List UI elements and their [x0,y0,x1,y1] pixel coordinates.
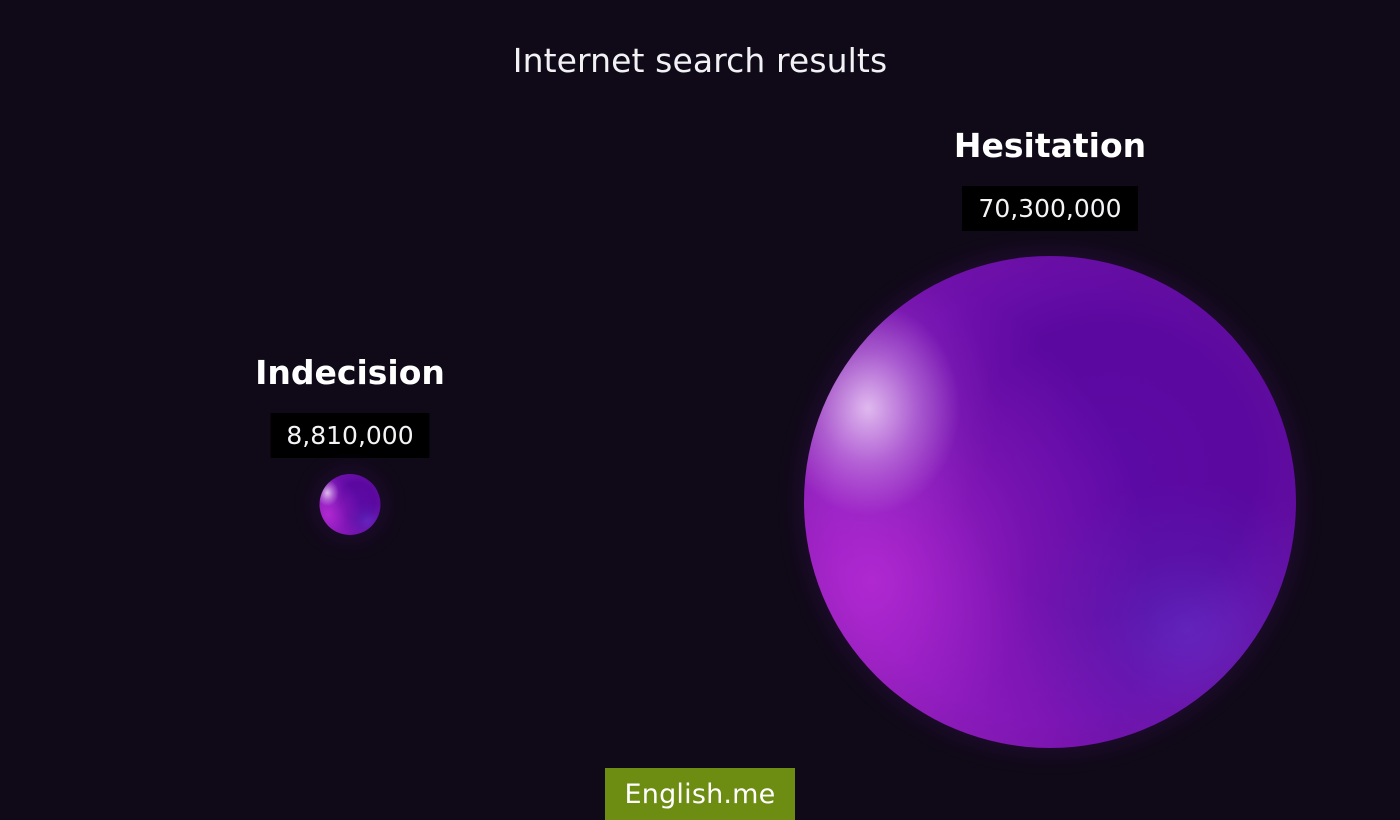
chart-title: Internet search results [0,40,1400,82]
bubble-circle-indecision[interactable] [320,474,381,535]
bubble-value-indecision: 8,810,000 [271,413,430,458]
brand-badge[interactable]: English.me [605,768,795,820]
bubble-label-hesitation: Hesitation [954,128,1146,164]
bubble-value-hesitation: 70,300,000 [962,186,1138,231]
bubble-circle-hesitation[interactable] [804,256,1296,748]
bubble-label-indecision: Indecision [255,355,445,391]
chart-canvas: Internet search results Indecision 8,810… [0,0,1400,820]
